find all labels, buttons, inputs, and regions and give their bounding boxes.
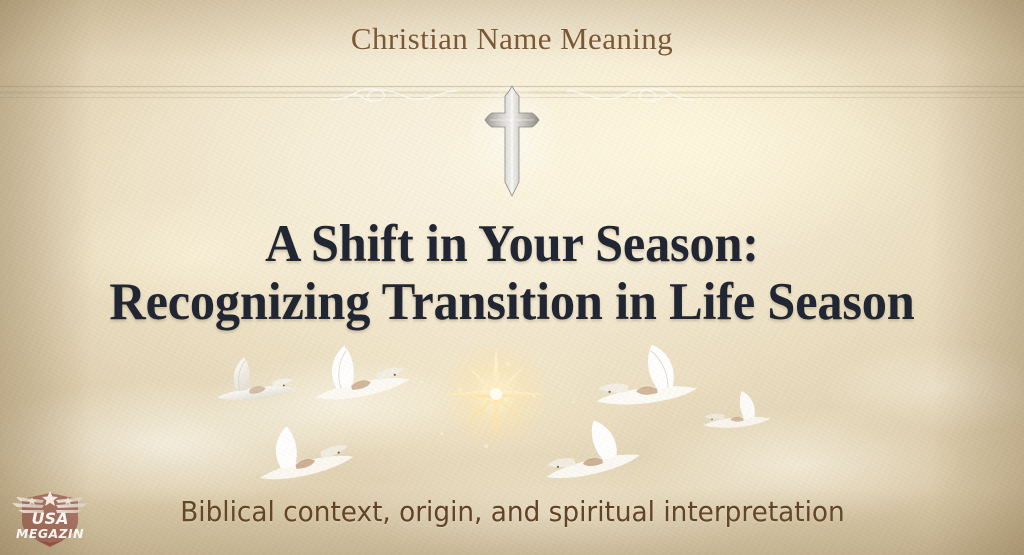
usa-megazin-watermark-logo: USA MEGAZIN [6, 487, 94, 549]
background-texture [0, 0, 1024, 555]
slide-canvas: Christian Name Meaning [0, 0, 1024, 555]
watermark-line-2: MEGAZIN [16, 526, 84, 541]
